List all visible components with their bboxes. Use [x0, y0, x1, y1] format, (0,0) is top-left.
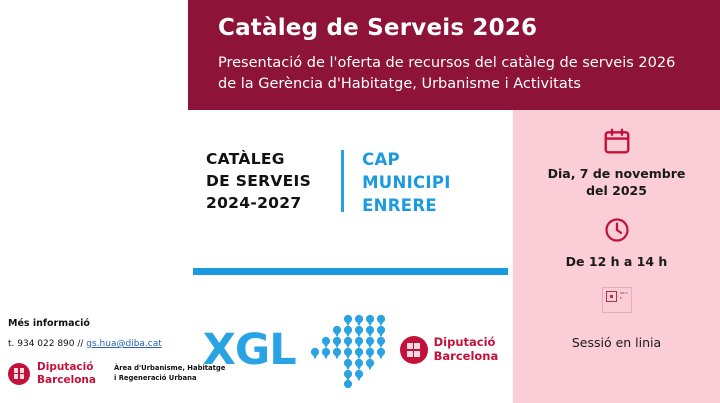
footer-area-name: Àrea d'Urbanisme, Habitatge i Regeneraci… [114, 364, 225, 384]
event-date: Dia, 7 de novembre del 2025 [548, 166, 686, 200]
page-title: Catàleg de Serveis 2026 [218, 14, 698, 43]
slogan-line-2: MUNICIPI [362, 171, 451, 194]
catalog-line-1: CATÀLEG [206, 148, 311, 170]
broken-image-alt-text: Ico na [620, 291, 629, 301]
diputacio-line-2: Barcelona [434, 350, 499, 364]
more-info-label: Més informació [8, 318, 188, 329]
header-subtitle-line-2: de la Gerència d'Habitatge, Urbanisme i … [218, 74, 698, 95]
event-date-line-2: del 2025 [548, 183, 686, 200]
footer-diputacio-logo: Diputació Barcelona Àrea d'Urbanisme, Ha… [8, 361, 188, 386]
header-band: Catàleg de Serveis 2026 Presentació de l… [188, 0, 720, 110]
diputacio-seal-icon [400, 336, 428, 364]
event-time: De 12 h a 14 h [566, 254, 668, 271]
footer-contact-block: Més informació t. 934 022 890 // gs.hua@… [8, 318, 188, 386]
calendar-icon [602, 126, 632, 156]
catalog-line-2: DE SERVEIS [206, 170, 311, 192]
header-subtitle-line-1: Presentació de l'oferta de recursos del … [218, 53, 698, 74]
slogan-line-1: CAP [362, 148, 451, 171]
slogan-line-3: ENRERE [362, 194, 451, 217]
footer-diputacio-wordmark: Diputació Barcelona [37, 361, 96, 386]
poster-canvas: Catàleg de Serveis 2026 Presentació de l… [0, 0, 720, 403]
contact-phone: t. 934 022 890 // [8, 339, 86, 349]
catalog-line-3: 2024-2027 [206, 192, 311, 214]
clock-icon [603, 216, 631, 244]
catalog-lockup: CATÀLEG DE SERVEIS 2024-2027 CAP MUNICIP… [206, 148, 451, 217]
footer-diputacio-line-1: Diputació [37, 361, 96, 374]
contact-line: t. 934 022 890 // gs.hua@diba.cat [8, 339, 188, 349]
xgl-arrow-dots-icon [310, 312, 386, 388]
slogan-wordmark: CAP MUNICIPI ENRERE [362, 148, 451, 217]
brand-logo-row: XGL [188, 300, 513, 400]
event-modality: Sessió en linia [572, 335, 661, 352]
event-date-line-1: Dia, 7 de novembre [548, 166, 686, 183]
diputacio-line-1: Diputació [434, 336, 499, 350]
contact-email-link[interactable]: gs.hua@diba.cat [86, 339, 161, 349]
diputacio-wordmark: Diputació Barcelona [434, 336, 499, 364]
event-details-panel: Dia, 7 de novembre del 2025 De 12 h a 14… [513, 110, 720, 403]
footer-area-line-1: Àrea d'Urbanisme, Habitatge [114, 364, 225, 374]
blue-rule-divider [193, 268, 508, 275]
diputacio-barcelona-logo: Diputació Barcelona [400, 336, 499, 364]
broken-image-icon: Ico na [602, 287, 632, 313]
vertical-divider [341, 150, 344, 212]
footer-diputacio-line-2: Barcelona [37, 374, 96, 387]
footer-area-line-2: i Regeneració Urbana [114, 374, 225, 384]
creative-artwork: CATÀLEG DE SERVEIS 2024-2027 CAP MUNICIP… [188, 110, 513, 403]
catalog-wordmark: CATÀLEG DE SERVEIS 2024-2027 [206, 148, 311, 214]
footer-diputacio-seal-icon [8, 363, 30, 385]
